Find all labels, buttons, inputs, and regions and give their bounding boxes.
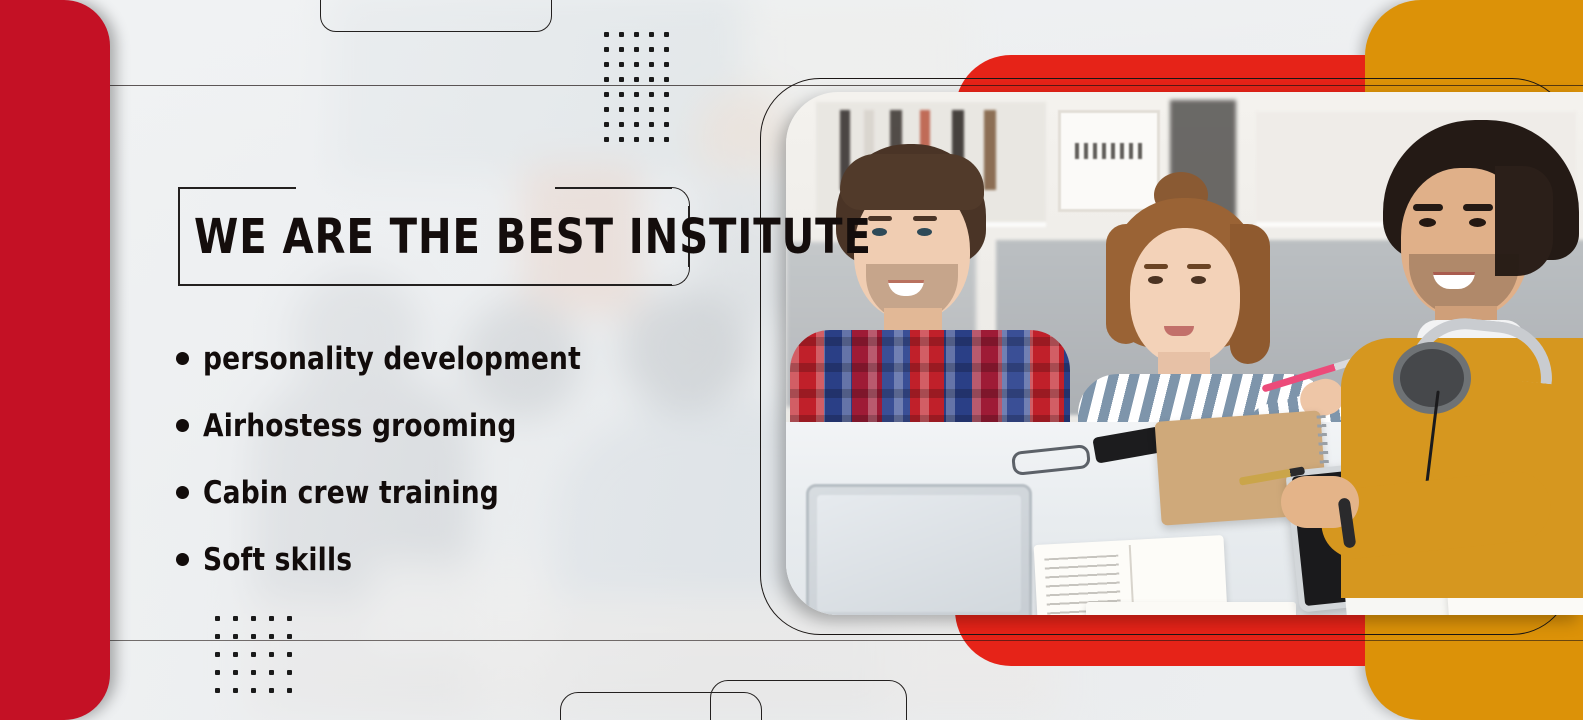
dot [634, 77, 639, 82]
bullet-dot-icon [176, 419, 189, 432]
dot [233, 688, 238, 693]
hairline-rule-bottom [0, 640, 1583, 641]
list-item-label: personality development [203, 341, 581, 377]
dot [604, 137, 609, 142]
list-item-label: Soft skills [203, 542, 352, 578]
dot [619, 92, 624, 97]
dot [287, 688, 292, 693]
dot [619, 77, 624, 82]
dot [634, 92, 639, 97]
dot [649, 47, 654, 52]
dot [604, 47, 609, 52]
dot [215, 616, 220, 621]
decorative-outline-rect-top [320, 0, 552, 32]
dot [634, 47, 639, 52]
promo-banner: WE ARE THE BEST INSTITUTE personality de… [0, 0, 1583, 720]
dot [619, 62, 624, 67]
feature-list: personality development Airhostess groom… [176, 325, 696, 593]
dot [233, 616, 238, 621]
list-item: personality development [176, 325, 696, 392]
dot [215, 634, 220, 639]
dot [619, 137, 624, 142]
dot [287, 652, 292, 657]
dot [619, 32, 624, 37]
dot [287, 616, 292, 621]
dot [251, 670, 256, 675]
dot [634, 62, 639, 67]
dot [664, 122, 669, 127]
dot [215, 688, 220, 693]
dot [664, 32, 669, 37]
dot [634, 137, 639, 142]
dot [634, 107, 639, 112]
dot [649, 107, 654, 112]
dot [604, 77, 609, 82]
list-item: Cabin crew training [176, 459, 696, 526]
list-item-label: Airhostess grooming [203, 408, 516, 444]
dot [269, 688, 274, 693]
dot [269, 634, 274, 639]
dot [664, 137, 669, 142]
dot [251, 688, 256, 693]
student-right [1331, 120, 1583, 590]
dot [233, 670, 238, 675]
dot [634, 32, 639, 37]
dot [251, 652, 256, 657]
dot [619, 107, 624, 112]
dot [649, 32, 654, 37]
dot [215, 670, 220, 675]
dot [251, 634, 256, 639]
dot [233, 652, 238, 657]
dot [619, 122, 624, 127]
dot [287, 634, 292, 639]
dot [269, 652, 274, 657]
left-red-accent-bar [0, 0, 110, 720]
dot [604, 92, 609, 97]
dot [619, 47, 624, 52]
decorative-outline-rect-bottom-right [710, 680, 907, 720]
bullet-dot-icon [176, 553, 189, 566]
dot [251, 616, 256, 621]
dot [664, 47, 669, 52]
dot [604, 122, 609, 127]
dot [649, 92, 654, 97]
list-item: Soft skills [176, 526, 696, 593]
dot [604, 32, 609, 37]
dot [664, 77, 669, 82]
bullet-dot-icon [176, 352, 189, 365]
dot [215, 652, 220, 657]
page-title: WE ARE THE BEST INSTITUTE [194, 209, 872, 265]
dot [604, 62, 609, 67]
book-stack [1086, 602, 1296, 615]
dot [634, 122, 639, 127]
list-item: Airhostess grooming [176, 392, 696, 459]
dot [287, 670, 292, 675]
laptop [806, 484, 1032, 615]
dot [233, 634, 238, 639]
headline-frame: WE ARE THE BEST INSTITUTE [178, 187, 690, 286]
dot [664, 107, 669, 112]
bullet-dot-icon [176, 486, 189, 499]
students-studying-together-photo [786, 92, 1583, 615]
dot [649, 77, 654, 82]
list-item-label: Cabin crew training [203, 475, 499, 511]
dot [664, 92, 669, 97]
dot [649, 122, 654, 127]
dot [649, 62, 654, 67]
dot [664, 62, 669, 67]
dot [269, 616, 274, 621]
dot [269, 670, 274, 675]
dot [649, 137, 654, 142]
dot [604, 107, 609, 112]
